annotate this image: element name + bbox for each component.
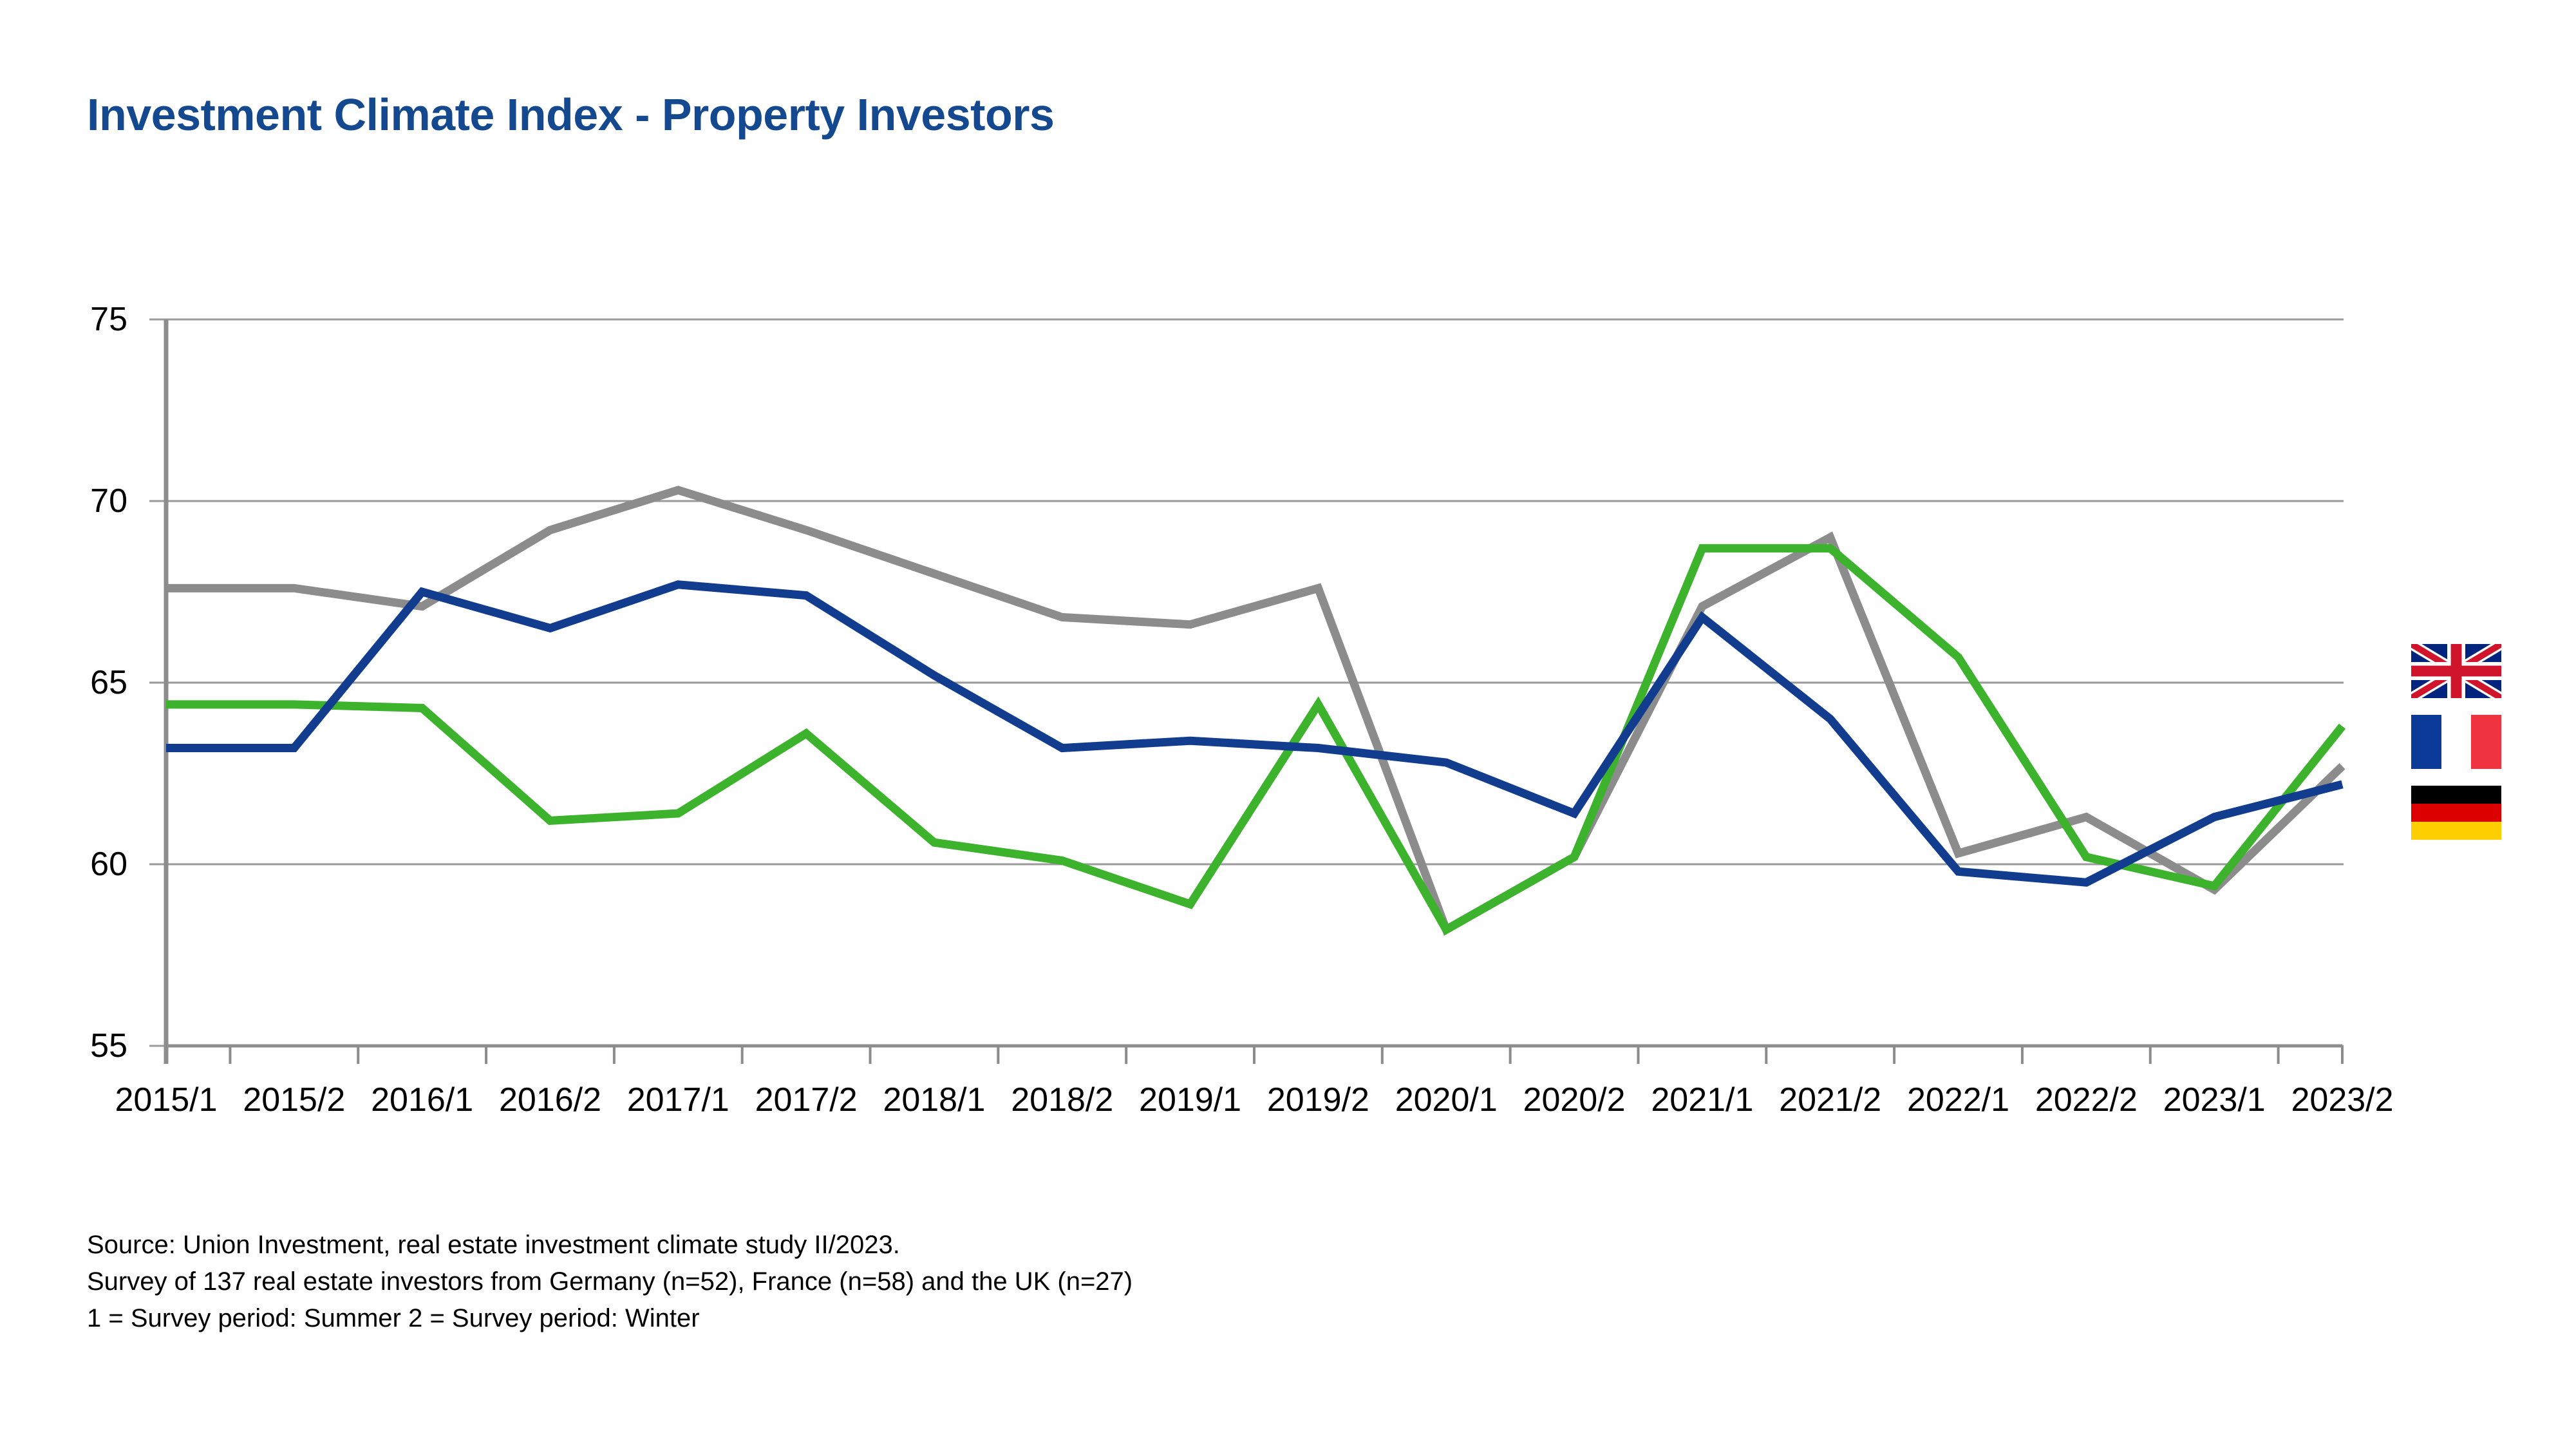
footnote-source: Source: Union Investment, real estate in… [87,1227,1133,1264]
x-axis-tick-label: 2017/1 [627,1081,729,1119]
x-axis-tick-label: 2023/1 [2163,1081,2266,1119]
chart-axes [166,319,2342,1064]
x-axis-tick-label: 2021/2 [1779,1081,1881,1119]
x-tick-marks [166,1046,2342,1064]
footnote-survey: Survey of 137 real estate investors from… [87,1264,1133,1300]
x-axis-tick-label: 2023/2 [2291,1081,2393,1119]
footnote-periods: 1 = Survey period: Summer 2 = Survey per… [87,1300,1133,1337]
x-axis-tick-label: 2021/1 [1651,1081,1753,1119]
x-axis-tick-label: 2016/2 [499,1081,601,1119]
x-axis-tick-label: 2015/1 [115,1081,217,1119]
footnotes: Source: Union Investment, real estate in… [87,1227,1133,1336]
gridlines [149,319,2344,1046]
x-axis-tick-label: 2022/1 [1907,1081,2009,1119]
y-axis-tick-label: 60 [50,845,127,884]
x-axis-tick-label: 2019/2 [1267,1081,1369,1119]
x-axis-tick-label: 2020/2 [1523,1081,1626,1119]
legend-flags [2411,644,2501,840]
x-axis-tick-label: 2016/1 [371,1081,473,1119]
x-axis-tick-label: 2022/2 [2035,1081,2138,1119]
y-axis-tick-label: 75 [50,300,127,339]
y-axis-tick-label: 65 [50,663,127,702]
x-axis-tick-label: 2018/1 [883,1081,985,1119]
x-axis-tick-label: 2018/2 [1011,1081,1113,1119]
x-axis-tick-label: 2020/1 [1395,1081,1498,1119]
y-axis-tick-label: 55 [50,1027,127,1065]
x-axis-tick-label: 2015/2 [243,1081,345,1119]
y-axis-tick-label: 70 [50,482,127,520]
uk-flag-icon [2411,644,2501,698]
x-axis-tick-label: 2017/2 [755,1081,858,1119]
germany-flag-icon [2411,786,2501,840]
france-flag-icon [2411,715,2501,769]
x-axis-tick-label: 2019/1 [1139,1081,1241,1119]
